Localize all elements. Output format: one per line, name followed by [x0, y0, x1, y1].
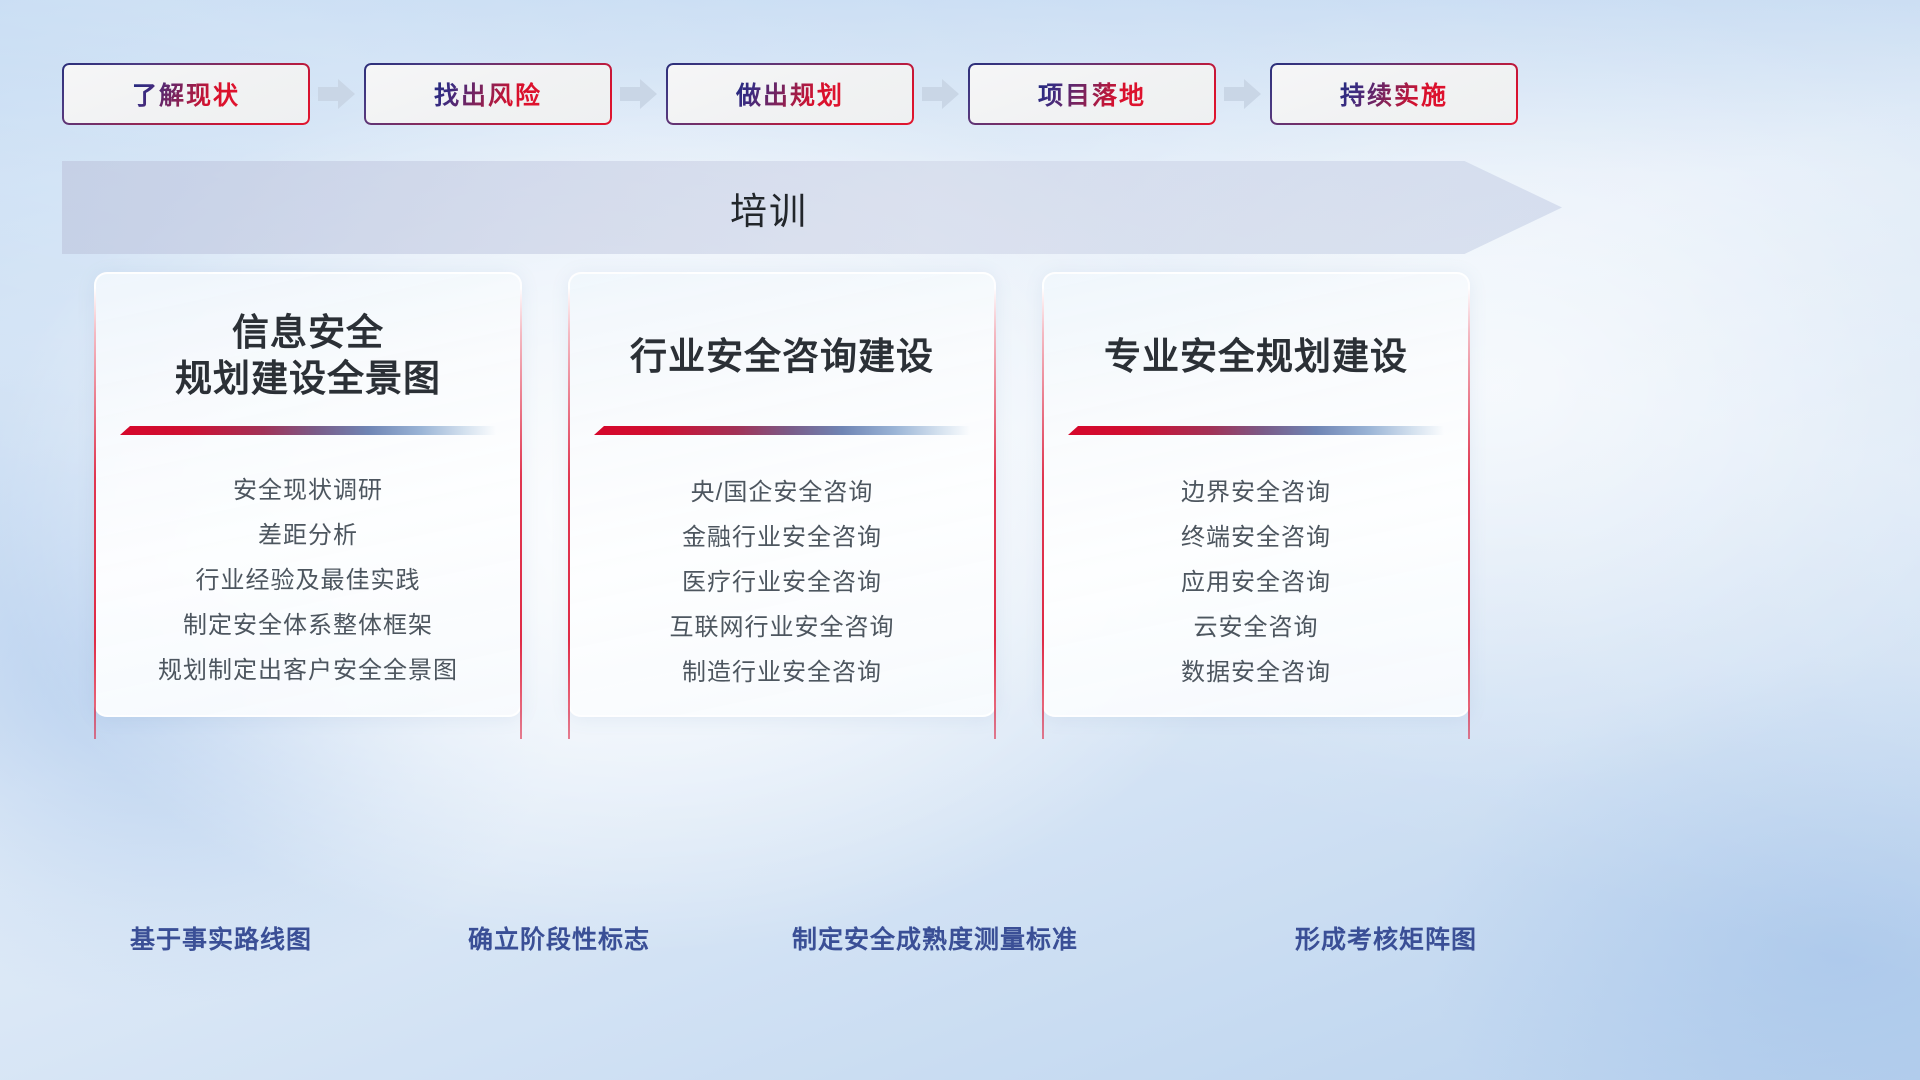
step-box-3[interactable]: 做出规划 — [666, 63, 914, 125]
caption-2: 确立阶段性标志 — [468, 920, 650, 956]
card-1-divider — [120, 426, 496, 435]
card-2-list: 央/国企安全咨询 金融行业安全咨询 医疗行业安全咨询 互联网行业安全咨询 制造行… — [570, 481, 994, 685]
step-label-4: 项目落地 — [1038, 76, 1146, 112]
card-2-title: 行业安全咨询建设 — [570, 334, 994, 380]
step-label-5: 持续实施 — [1340, 76, 1448, 112]
step-box-5[interactable]: 持续实施 — [1270, 63, 1518, 125]
process-step-row: 了解现状 找出风险 做出规划 项目落地 持续实施 — [62, 63, 1858, 125]
card-2-divider — [594, 426, 970, 435]
card-2-list-item-5: 制造行业安全咨询 — [570, 661, 994, 685]
step-label-3: 做出规划 — [736, 76, 844, 112]
card-3-list-item-1: 边界安全咨询 — [1044, 481, 1468, 505]
card-1[interactable]: 信息安全 规划建设全景图 安全现状调研 差距分析 行业经验及最佳实践 制定安全体… — [94, 272, 522, 717]
step-separator-arrow-icon-1 — [318, 77, 356, 111]
card-3-list-item-2: 终端安全咨询 — [1044, 526, 1468, 550]
card-3-title-line-1: 专业安全规划建设 — [1044, 334, 1468, 380]
card-1-title-line-1: 信息安全 — [96, 310, 520, 356]
card-2-edge-right — [994, 288, 996, 739]
card-1-list-item-1: 安全现状调研 — [96, 479, 520, 503]
card-3-list: 边界安全咨询 终端安全咨询 应用安全咨询 云安全咨询 数据安全咨询 — [1044, 481, 1468, 685]
training-banner: 培训 — [62, 161, 1562, 254]
card-1-edge-right — [520, 288, 522, 739]
card-row: 信息安全 规划建设全景图 安全现状调研 差距分析 行业经验及最佳实践 制定安全体… — [0, 272, 1920, 717]
card-1-list-item-2: 差距分析 — [96, 524, 520, 548]
card-1-list-item-4: 制定安全体系整体框架 — [96, 614, 520, 638]
card-3-title: 专业安全规划建设 — [1044, 334, 1468, 380]
banner-label: 培训 — [62, 181, 1562, 235]
card-2-list-item-4: 互联网行业安全咨询 — [570, 616, 994, 640]
step-box-2[interactable]: 找出风险 — [364, 63, 612, 125]
card-1-title: 信息安全 规划建设全景图 — [96, 310, 520, 403]
card-2-title-line-1: 行业安全咨询建设 — [570, 334, 994, 380]
step-separator-arrow-icon-4 — [1224, 77, 1262, 111]
card-3-list-item-5: 数据安全咨询 — [1044, 661, 1468, 685]
card-3[interactable]: 专业安全规划建设 边界安全咨询 终端安全咨询 应用安全咨询 云安全咨询 数据安全… — [1042, 272, 1470, 717]
caption-4: 形成考核矩阵图 — [1295, 920, 1477, 956]
card-1-list-item-5: 规划制定出客户安全全景图 — [96, 659, 520, 683]
card-3-edge-right — [1468, 288, 1470, 739]
step-box-4[interactable]: 项目落地 — [968, 63, 1216, 125]
step-label-1: 了解现状 — [132, 76, 240, 112]
card-2-list-item-3: 医疗行业安全咨询 — [570, 571, 994, 595]
card-1-list-item-3: 行业经验及最佳实践 — [96, 569, 520, 593]
caption-1: 基于事实路线图 — [130, 920, 312, 956]
card-2[interactable]: 行业安全咨询建设 央/国企安全咨询 金融行业安全咨询 医疗行业安全咨询 互联网行… — [568, 272, 996, 717]
step-separator-arrow-icon-2 — [620, 77, 658, 111]
caption-row: 基于事实路线图 确立阶段性标志 制定安全成熟度测量标准 形成考核矩阵图 — [0, 920, 1920, 960]
step-separator-arrow-icon-3 — [922, 77, 960, 111]
step-label-2: 找出风险 — [434, 76, 542, 112]
card-1-title-line-2: 规划建设全景图 — [96, 356, 520, 402]
card-1-list: 安全现状调研 差距分析 行业经验及最佳实践 制定安全体系整体框架 规划制定出客户… — [96, 479, 520, 683]
step-box-1[interactable]: 了解现状 — [62, 63, 310, 125]
caption-3: 制定安全成熟度测量标准 — [792, 920, 1078, 956]
card-3-divider — [1068, 426, 1444, 435]
card-2-list-item-2: 金融行业安全咨询 — [570, 526, 994, 550]
card-3-list-item-4: 云安全咨询 — [1044, 616, 1468, 640]
card-2-list-item-1: 央/国企安全咨询 — [570, 481, 994, 505]
card-3-list-item-3: 应用安全咨询 — [1044, 571, 1468, 595]
